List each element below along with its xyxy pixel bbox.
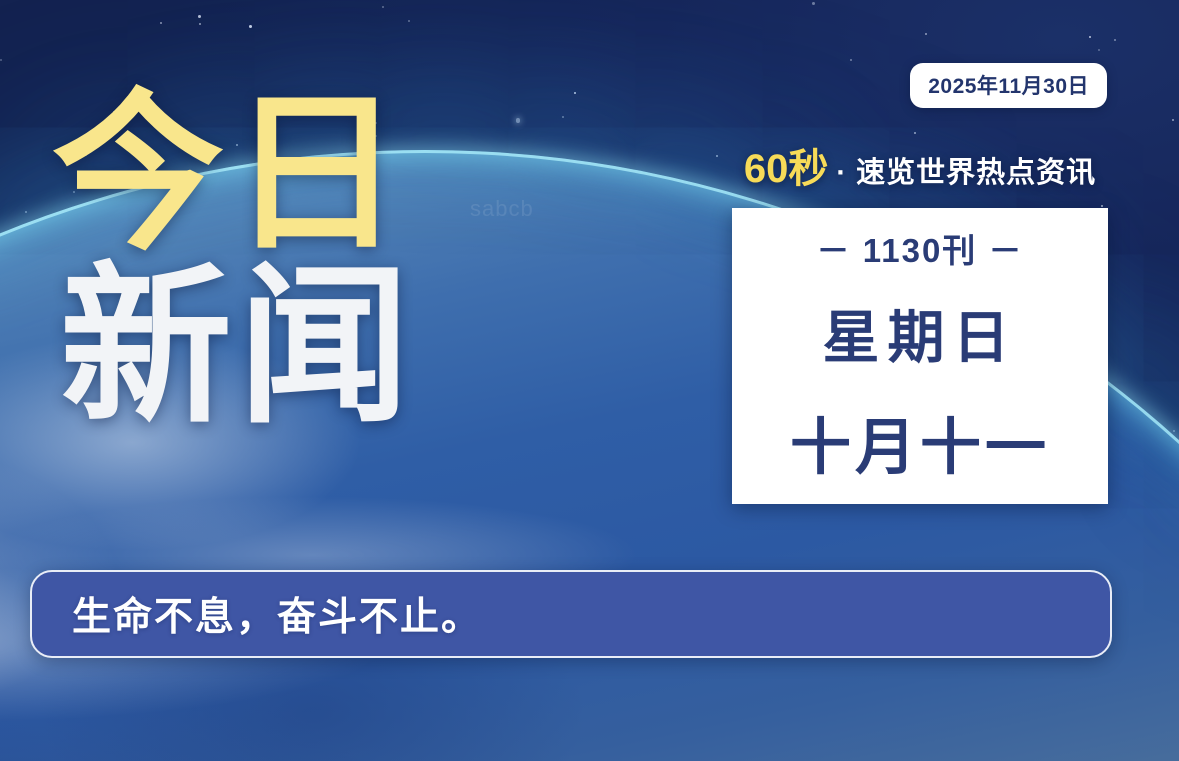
poster-title: 今日 新闻	[52, 92, 416, 430]
lunar-date-label: 十月十一	[790, 397, 1050, 486]
quote-text: 生命不息，奋斗不止。	[32, 586, 482, 642]
tagline-seconds: 60秒	[744, 136, 829, 194]
title-line-news: 新闻	[60, 265, 416, 430]
tagline-rest: · 速览世界热点资讯	[836, 149, 1096, 191]
title-line-today: 今日	[52, 92, 416, 257]
quote-bar: 生命不息，奋斗不止。	[30, 570, 1112, 658]
info-card: － 1130刊 － 星期日 十月十一	[732, 208, 1108, 504]
tagline: 60秒 · 速览世界热点资讯	[732, 136, 1108, 194]
weekday-label: 星期日	[823, 292, 1018, 374]
date-badge: 2025年11月30日	[910, 63, 1107, 108]
right-column: 60秒 · 速览世界热点资讯 － 1130刊 － 星期日 十月十一	[732, 136, 1108, 504]
issue-number-label: － 1130刊 －	[817, 224, 1024, 272]
news-poster: sabcb 2025年11月30日 今日 新闻 60秒 · 速览世界热点资讯 －…	[0, 0, 1179, 761]
